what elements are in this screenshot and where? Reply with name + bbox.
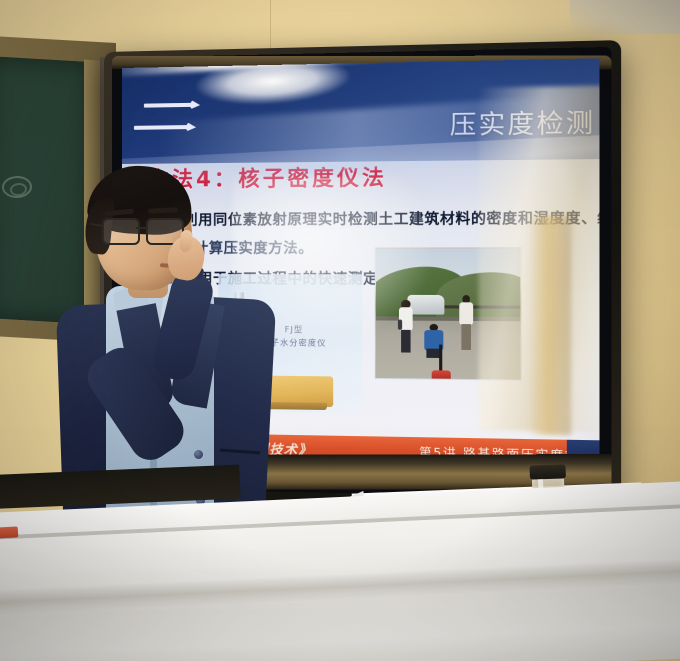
screen-glare-pillar [528, 216, 571, 436]
desk-red-object [0, 526, 18, 538]
photo-gauge-device [439, 345, 442, 374]
jacket-button-upper [194, 450, 203, 459]
photo-person-standing-right [459, 295, 473, 350]
wall-panel-seam [270, 0, 271, 48]
arrow-graphic-top [144, 103, 200, 104]
ceiling-corner [570, 0, 680, 34]
classroom-scene: 压实度检测 方法4：核子密度仪法 （1）利用同位素放射原理实时检测土工建筑材料的… [0, 0, 680, 661]
